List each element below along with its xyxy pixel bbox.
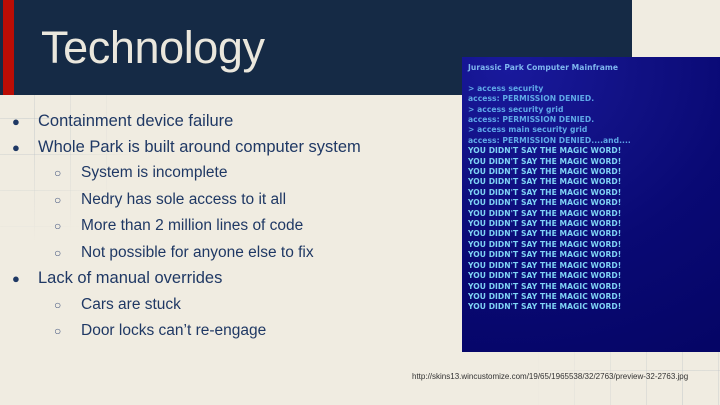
terminal-magic-word-line: YOU DIDN'T SAY THE MAGIC WORD! (468, 146, 720, 156)
bullet-item: ●Lack of manual overrides (12, 266, 452, 292)
bullet-item: ●Containment device failure (12, 109, 452, 135)
terminal-magic-word-line: YOU DIDN'T SAY THE MAGIC WORD! (468, 198, 720, 208)
bullet-marker-hollow-icon: ○ (54, 241, 81, 267)
terminal-magic-word-line: YOU DIDN'T SAY THE MAGIC WORD! (468, 219, 720, 229)
bullet-marker-hollow-icon: ○ (54, 161, 81, 187)
terminal-magic-word-line: YOU DIDN'T SAY THE MAGIC WORD! (468, 271, 720, 281)
bullet-list: ●Containment device failure●Whole Park i… (12, 109, 452, 345)
bullet-item: ○Cars are stuck (12, 292, 452, 319)
terminal-output-lines: > access securityaccess: PERMISSION DENI… (468, 84, 720, 313)
bullet-text: Nedry has sole access to it all (81, 187, 286, 213)
terminal-magic-word-line: YOU DIDN'T SAY THE MAGIC WORD! (468, 261, 720, 271)
terminal-command-line: > access main security grid (468, 125, 720, 135)
terminal-magic-word-line: YOU DIDN'T SAY THE MAGIC WORD! (468, 240, 720, 250)
bullet-marker-filled-icon: ● (12, 109, 38, 135)
bullet-item: ○More than 2 million lines of code (12, 213, 452, 240)
terminal-response-line: access: PERMISSION DENIED. (468, 94, 720, 104)
terminal-command-line: > access security (468, 84, 720, 94)
terminal-magic-word-line: YOU DIDN'T SAY THE MAGIC WORD! (468, 250, 720, 260)
bullet-text: Whole Park is built around computer syst… (38, 135, 361, 161)
jurassic-park-terminal-image: Jurassic Park Computer Mainframe > acces… (462, 57, 720, 352)
bullet-marker-hollow-icon: ○ (54, 293, 81, 319)
terminal-magic-word-line: YOU DIDN'T SAY THE MAGIC WORD! (468, 209, 720, 219)
bullet-marker-hollow-icon: ○ (54, 319, 81, 345)
bullet-item: ○Nedry has sole access to it all (12, 187, 452, 214)
bullet-item: ○Not possible for anyone else to fix (12, 240, 452, 267)
terminal-magic-word-line: YOU DIDN'T SAY THE MAGIC WORD! (468, 292, 720, 302)
terminal-response-line: access: PERMISSION DENIED....and.... (468, 136, 720, 146)
terminal-magic-word-line: YOU DIDN'T SAY THE MAGIC WORD! (468, 302, 720, 312)
bullet-text: Containment device failure (38, 109, 233, 135)
terminal-response-line: access: PERMISSION DENIED. (468, 115, 720, 125)
bullet-text: More than 2 million lines of code (81, 213, 303, 239)
terminal-text-block: Jurassic Park Computer Mainframe > acces… (468, 63, 720, 313)
terminal-magic-word-line: YOU DIDN'T SAY THE MAGIC WORD! (468, 229, 720, 239)
bullet-text: Cars are stuck (81, 292, 181, 318)
bullet-item: ●Whole Park is built around computer sys… (12, 135, 452, 161)
presentation-slide: Technology ●Containment device failure●W… (0, 0, 720, 405)
bullet-marker-filled-icon: ● (12, 135, 38, 161)
bullet-marker-filled-icon: ● (12, 266, 38, 292)
bullet-text: Lack of manual overrides (38, 266, 222, 292)
bullet-text: System is incomplete (81, 160, 227, 186)
terminal-magic-word-line: YOU DIDN'T SAY THE MAGIC WORD! (468, 157, 720, 167)
bullet-text: Door locks can’t re-engage (81, 318, 266, 344)
terminal-magic-word-line: YOU DIDN'T SAY THE MAGIC WORD! (468, 282, 720, 292)
bullet-marker-hollow-icon: ○ (54, 188, 81, 214)
terminal-magic-word-line: YOU DIDN'T SAY THE MAGIC WORD! (468, 167, 720, 177)
bullet-item: ○System is incomplete (12, 160, 452, 187)
terminal-command-line: > access security grid (468, 105, 720, 115)
red-accent-bar (3, 0, 14, 95)
bullet-marker-hollow-icon: ○ (54, 214, 81, 240)
terminal-magic-word-line: YOU DIDN'T SAY THE MAGIC WORD! (468, 188, 720, 198)
slide-title: Technology (41, 20, 265, 76)
bullet-text: Not possible for anyone else to fix (81, 240, 314, 266)
terminal-title: Jurassic Park Computer Mainframe (468, 63, 720, 73)
terminal-magic-word-line: YOU DIDN'T SAY THE MAGIC WORD! (468, 177, 720, 187)
source-url-caption: http://skins13.wincustomize.com/19/65/19… (412, 371, 688, 382)
bullet-item: ○Door locks can’t re-engage (12, 318, 452, 345)
